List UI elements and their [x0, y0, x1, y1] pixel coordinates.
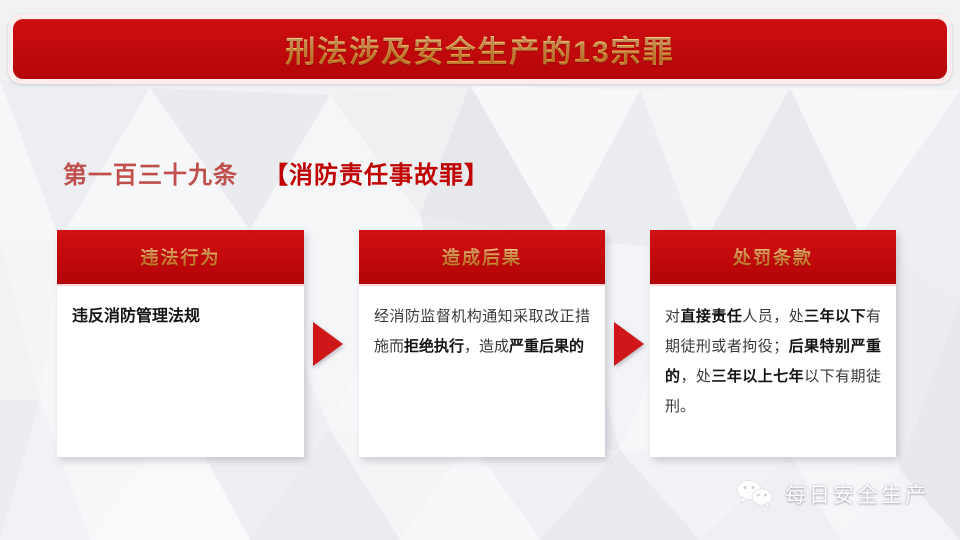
article-number: 第一百三十九条 [63, 162, 238, 189]
wechat-icon [735, 478, 775, 510]
card-violation-header: 违法行为 [57, 230, 304, 286]
card-consequence: 造成后果 经消防监督机构通知采取改正措施而拒绝执行，造成严重后果的 [359, 230, 605, 457]
card-penalty-header: 处罚条款 [650, 230, 896, 286]
card-consequence-header-label: 造成后果 [442, 244, 522, 270]
card-consequence-body: 经消防监督机构通知采取改正措施而拒绝执行，造成严重后果的 [359, 286, 605, 372]
card-consequence-header: 造成后果 [359, 230, 605, 286]
article-subtitle: 第一百三十九条【消防责任事故罪】 [63, 155, 489, 190]
crime-name: 【消防责任事故罪】 [264, 162, 489, 189]
card-penalty: 处罚条款 对直接责任人员，处三年以下有期徒刑或者拘役；后果特别严重的，处三年以上… [650, 230, 896, 457]
page-title: 刑法涉及安全生产的13宗罪 [285, 27, 674, 71]
wechat-watermark: 每日安全生产 [735, 478, 929, 510]
watermark-label: 每日安全生产 [785, 479, 929, 509]
card-violation-body: 违反消防管理法规 [57, 286, 304, 342]
title-banner-frame: 刑法涉及安全生产的13宗罪 [8, 14, 952, 84]
card-penalty-body: 对直接责任人员，处三年以下有期徒刑或者拘役；后果特别严重的，处三年以上七年以下有… [650, 286, 896, 432]
presentation-slide: 刑法涉及安全生产的13宗罪 第一百三十九条【消防责任事故罪】 违法行为 违反消防… [0, 0, 960, 540]
title-banner: 刑法涉及安全生产的13宗罪 [13, 19, 947, 79]
flow-arrow-right-icon [313, 322, 343, 366]
card-violation-header-label: 违法行为 [141, 244, 221, 270]
flow-arrow-right-icon [614, 322, 644, 366]
card-penalty-header-label: 处罚条款 [733, 244, 813, 270]
card-violation: 违法行为 违反消防管理法规 [57, 230, 304, 457]
